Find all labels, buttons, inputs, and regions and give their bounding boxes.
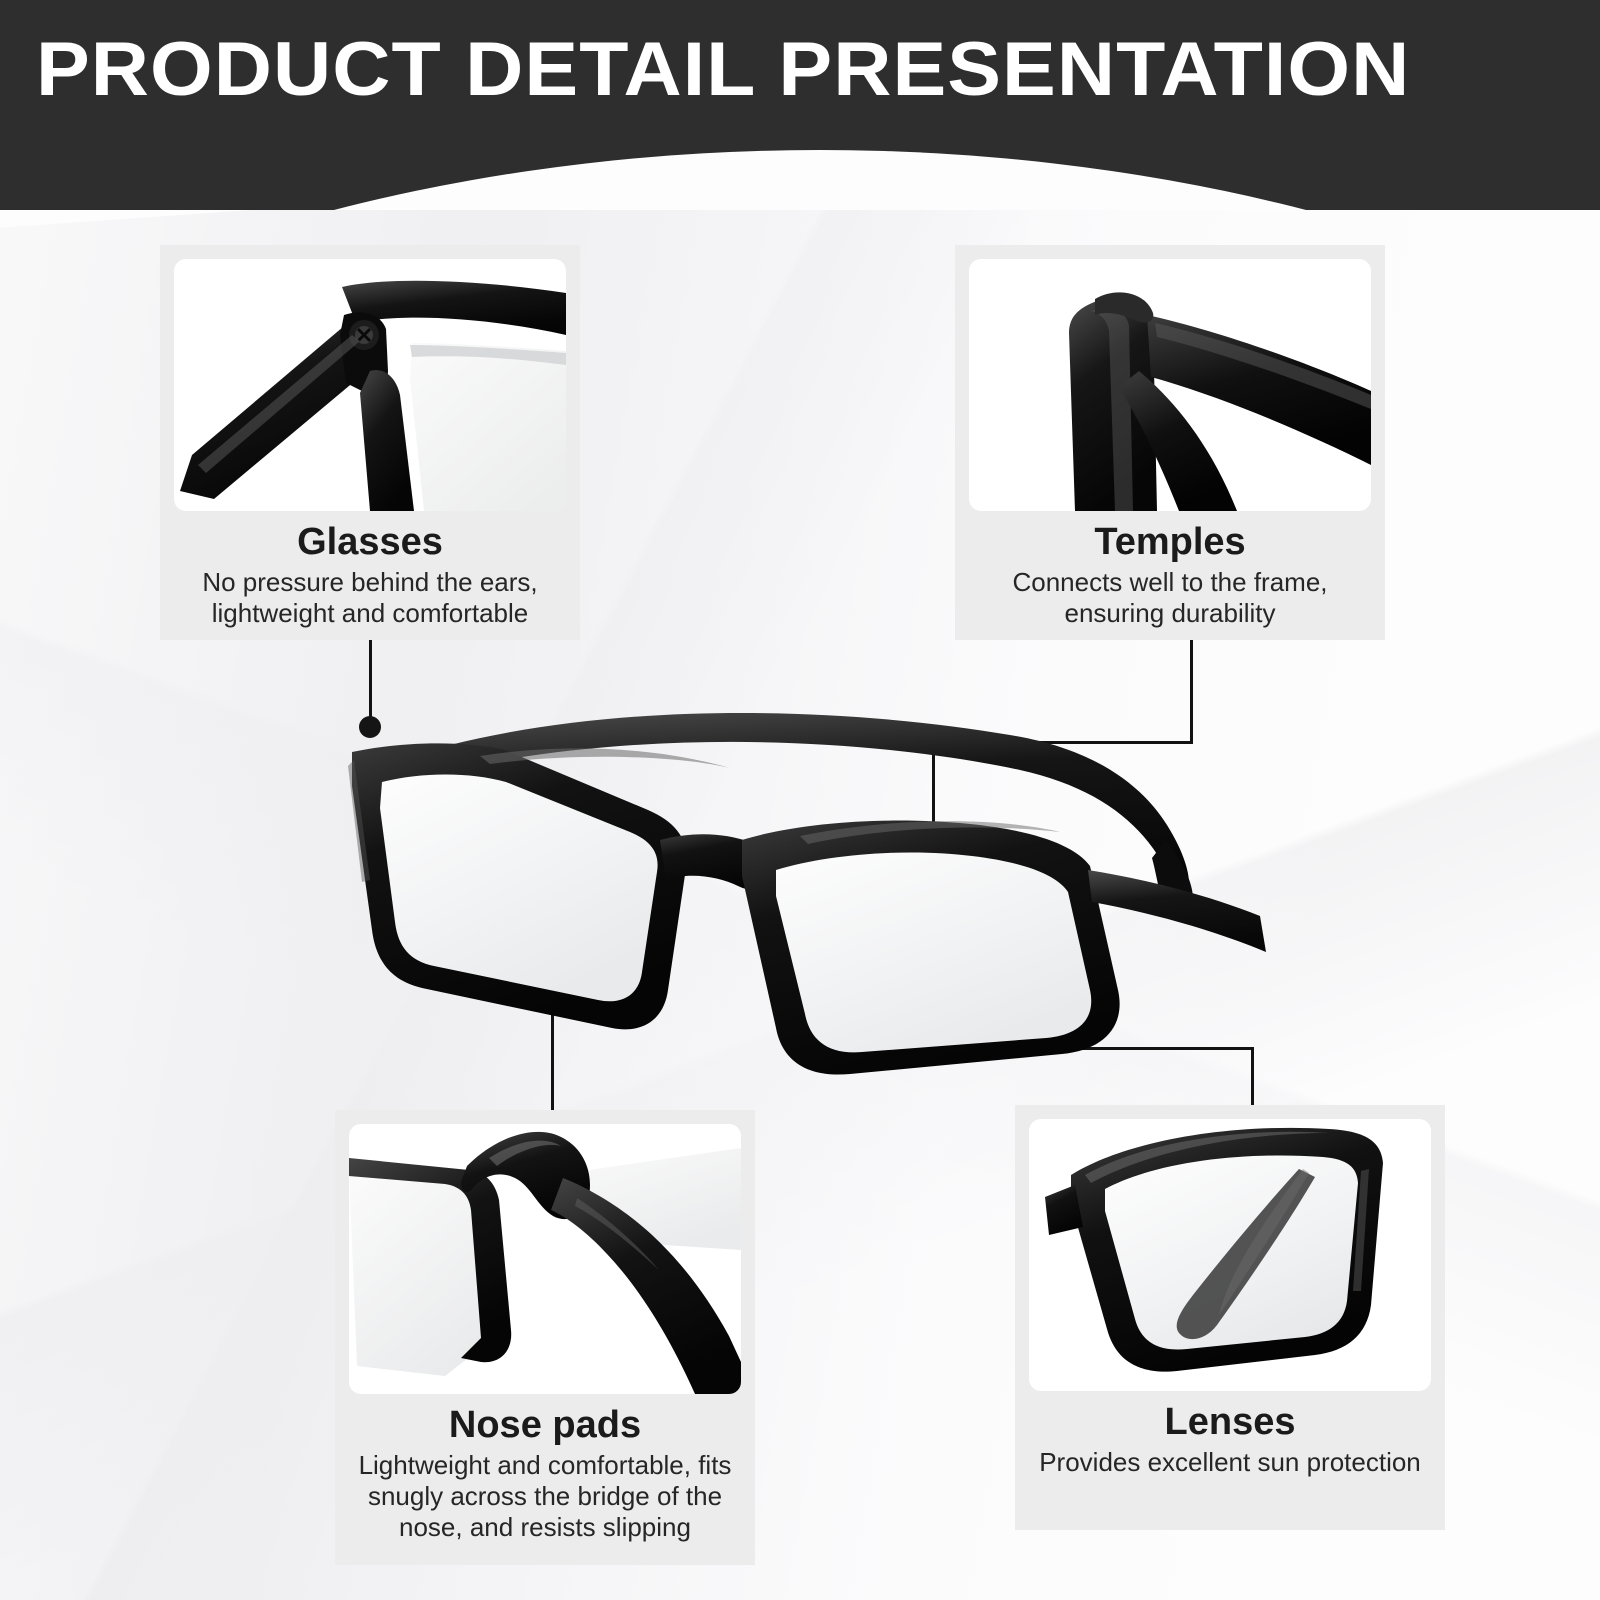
callout-card-nosepads[interactable]: Nose pads Lightweight and comfortable, f… — [335, 1110, 755, 1565]
callout-card-glasses[interactable]: Glasses No pressure behind the ears, lig… — [160, 245, 580, 640]
nose-bridge-closeup-photo — [349, 1124, 741, 1394]
hinge-closeup-illustration — [174, 259, 566, 511]
callout-title-nosepads: Nose pads — [355, 1402, 735, 1448]
header-banner: PRODUCT DETAIL PRESENTATION — [0, 0, 1600, 210]
page-title: PRODUCT DETAIL PRESENTATION — [36, 26, 1600, 114]
temple-arm-closeup-illustration — [969, 259, 1371, 511]
callout-caption-nosepads: Nose pads Lightweight and comfortable, f… — [349, 1394, 741, 1565]
black-cat-eye-eyeglasses-photo — [330, 690, 1270, 1110]
callout-title-glasses: Glasses — [180, 519, 560, 565]
callout-title-lenses: Lenses — [1035, 1399, 1425, 1445]
callout-card-temples[interactable]: Temples Connects well to the frame, ensu… — [955, 245, 1385, 640]
nose-bridge-closeup-illustration — [349, 1124, 741, 1394]
callout-card-lenses[interactable]: Lenses Provides excellent sun protection — [1015, 1105, 1445, 1530]
callout-caption-glasses: Glasses No pressure behind the ears, lig… — [174, 511, 566, 643]
header-curve-shape — [0, 150, 1600, 210]
callout-description-lenses: Provides excellent sun protection — [1035, 1447, 1425, 1478]
product-detail-poster: PRODUCT DETAIL PRESENTATION — [0, 0, 1600, 1600]
callout-description-nosepads: Lightweight and comfortable, fits snugly… — [355, 1450, 735, 1543]
lens-front-closeup-illustration — [1029, 1119, 1431, 1391]
callout-description-temples: Connects well to the frame, ensuring dur… — [975, 567, 1365, 629]
callout-caption-lenses: Lenses Provides excellent sun protection — [1029, 1391, 1431, 1530]
hero-product-image — [330, 690, 1270, 1110]
callout-description-glasses: No pressure behind the ears, lightweight… — [180, 567, 560, 629]
lens-front-closeup-photo — [1029, 1119, 1431, 1391]
callout-caption-temples: Temples Connects well to the frame, ensu… — [969, 511, 1371, 643]
temple-arm-closeup-photo — [969, 259, 1371, 511]
hinge-closeup-photo — [174, 259, 566, 511]
callout-title-temples: Temples — [975, 519, 1365, 565]
